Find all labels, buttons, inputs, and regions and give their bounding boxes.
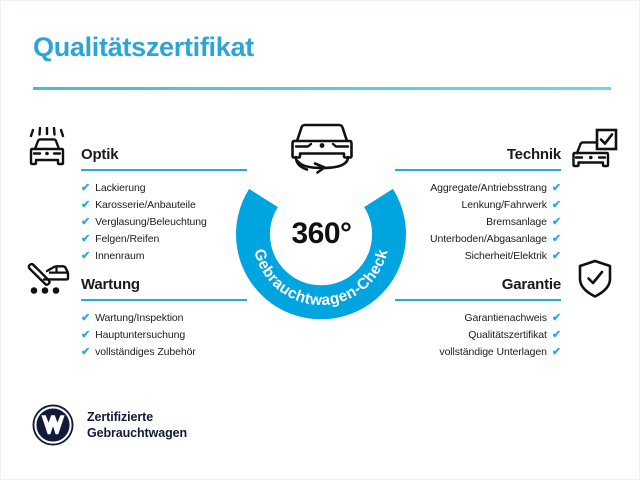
list-item: ✔Felgen/Reifen [81, 231, 253, 248]
section-garantie-header: Garantie [389, 257, 619, 303]
shield-check-icon [571, 257, 619, 301]
list-item: ✔Verglasung/Beleuchtung [81, 214, 253, 231]
page-title: Qualitätszertifikat [33, 33, 609, 63]
section-garantie: Garantie Garantienachweis✔ Qualitätszert… [389, 257, 619, 361]
list-item: Bremsanlage✔ [389, 214, 561, 231]
section-technik-divider [395, 169, 561, 171]
list-item: ✔Karosserie/Anbauteile [81, 197, 253, 214]
list-item: Qualitätszertifikat✔ [389, 327, 561, 344]
list-item: ✔Wartung/Inspektion [81, 310, 253, 327]
section-technik: Technik Aggregate/Antriebsstrang✔ Lenkun… [389, 127, 619, 265]
list-item-label: Aggregate/Antriebsstrang [430, 182, 547, 194]
list-item-label: vollständige Unterlagen [439, 346, 546, 358]
check-icon: ✔ [81, 214, 90, 231]
section-optik: Optik ✔Lackierung ✔Karosserie/Anbauteile… [23, 127, 253, 265]
section-optik-divider [81, 169, 247, 171]
section-wartung-list: ✔Wartung/Inspektion ✔Hauptuntersuchung ✔… [23, 310, 253, 361]
list-item: ✔vollständiges Zubehör [81, 344, 253, 361]
section-wartung-title: Wartung [81, 276, 140, 293]
check-icon: ✔ [552, 327, 561, 344]
list-item-label: Bremsanlage [486, 216, 547, 228]
list-item: ✔Lackierung [81, 180, 253, 197]
section-optik-list: ✔Lackierung ✔Karosserie/Anbauteile ✔Verg… [23, 180, 253, 265]
section-optik-header: Optik [23, 127, 253, 173]
list-item-label: Karosserie/Anbauteile [95, 199, 196, 211]
footer-line-1: Zertifizierte [87, 409, 187, 425]
check-icon: ✔ [552, 310, 561, 327]
check-icon: ✔ [552, 231, 561, 248]
list-item-label: Felgen/Reifen [95, 233, 159, 245]
section-optik-title: Optik [81, 146, 118, 163]
list-item: Unterboden/Abgasanlage✔ [389, 231, 561, 248]
car-checkbox-icon [571, 127, 619, 171]
360-check-badge: Gebrauchtwagen-Check 360° [229, 113, 414, 313]
list-item-label: vollständiges Zubehör [95, 346, 196, 358]
check-icon: ✔ [81, 231, 90, 248]
list-item-label: Qualitätszertifikat [468, 329, 547, 341]
check-icon: ✔ [552, 344, 561, 361]
list-item: Lenkung/Fahrwerk✔ [389, 197, 561, 214]
section-garantie-divider [395, 299, 561, 301]
header-divider [33, 87, 611, 90]
check-icon: ✔ [81, 310, 90, 327]
list-item: vollständige Unterlagen✔ [389, 344, 561, 361]
check-icon: ✔ [81, 327, 90, 344]
list-item: ✔Hauptuntersuchung [81, 327, 253, 344]
section-technik-title: Technik [507, 146, 561, 163]
section-garantie-title: Garantie [502, 276, 561, 293]
check-icon: ✔ [81, 197, 90, 214]
section-technik-list: Aggregate/Antriebsstrang✔ Lenkung/Fahrwe… [389, 180, 619, 265]
list-item-label: Unterboden/Abgasanlage [430, 233, 547, 245]
vw-logo-icon [31, 403, 75, 447]
footer-brand: Zertifizierte Gebrauchtwagen [31, 403, 187, 447]
list-item-label: Hauptuntersuchung [95, 329, 185, 341]
list-item-label: Lackierung [95, 182, 145, 194]
check-icon: ✔ [81, 344, 90, 361]
section-wartung-divider [81, 299, 247, 301]
footer-line-2: Gebrauchtwagen [87, 425, 187, 441]
check-icon: ✔ [81, 180, 90, 197]
section-wartung: Wartung ✔Wartung/Inspektion ✔Hauptunters… [23, 257, 253, 361]
check-icon: ✔ [552, 214, 561, 231]
section-technik-header: Technik [389, 127, 619, 173]
section-wartung-header: Wartung [23, 257, 253, 303]
section-garantie-list: Garantienachweis✔ Qualitätszertifikat✔ v… [389, 310, 619, 361]
list-item-label: Garantienachweis [464, 312, 546, 324]
list-item-label: Verglasung/Beleuchtung [95, 216, 207, 228]
badge-center-label: 360° [229, 217, 414, 251]
list-item-label: Lenkung/Fahrwerk [462, 199, 547, 211]
car-shine-icon [23, 127, 71, 171]
check-icon: ✔ [552, 197, 561, 214]
list-item-label: Wartung/Inspektion [95, 312, 183, 324]
certificate-page: Qualitätszertifikat [0, 0, 640, 480]
header: Qualitätszertifikat [33, 33, 609, 63]
car-service-wrench-icon [23, 257, 71, 301]
footer-text: Zertifizierte Gebrauchtwagen [87, 409, 187, 441]
check-icon: ✔ [552, 180, 561, 197]
list-item: Aggregate/Antriebsstrang✔ [389, 180, 561, 197]
list-item: Garantienachweis✔ [389, 310, 561, 327]
